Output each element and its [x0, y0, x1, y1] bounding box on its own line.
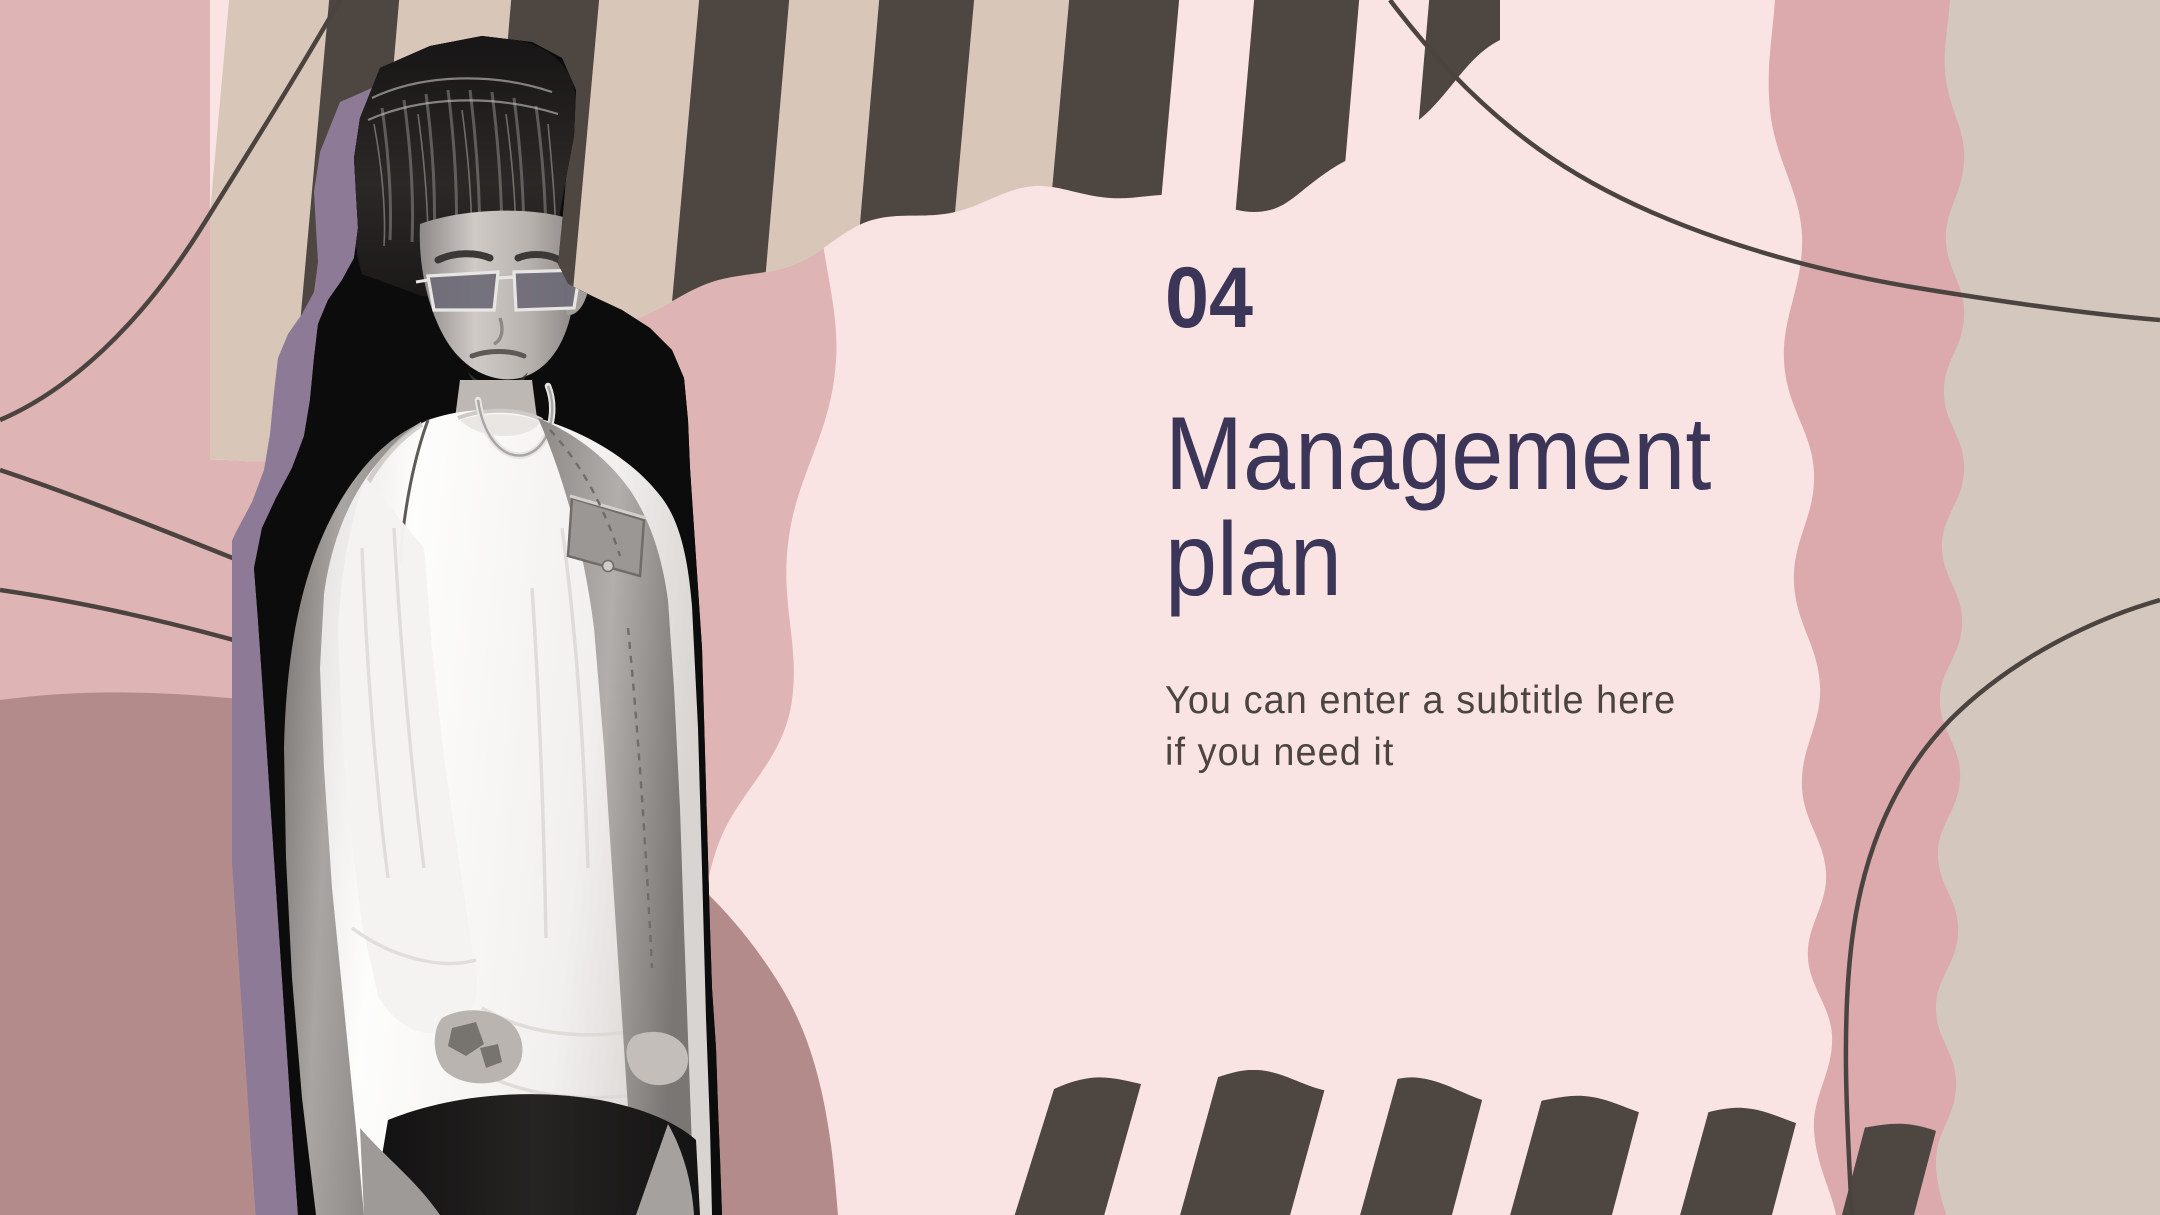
person-cutout-photo [232, 28, 732, 1215]
slide-text-block: 04 Management plan You can enter a subti… [1165, 255, 1865, 778]
slide-subtitle: You can enter a subtitle here if you nee… [1165, 675, 1844, 778]
section-number: 04 [1165, 255, 1809, 341]
page-title: Management plan [1165, 401, 1795, 613]
presentation-slide: 04 Management plan You can enter a subti… [0, 0, 2160, 1215]
